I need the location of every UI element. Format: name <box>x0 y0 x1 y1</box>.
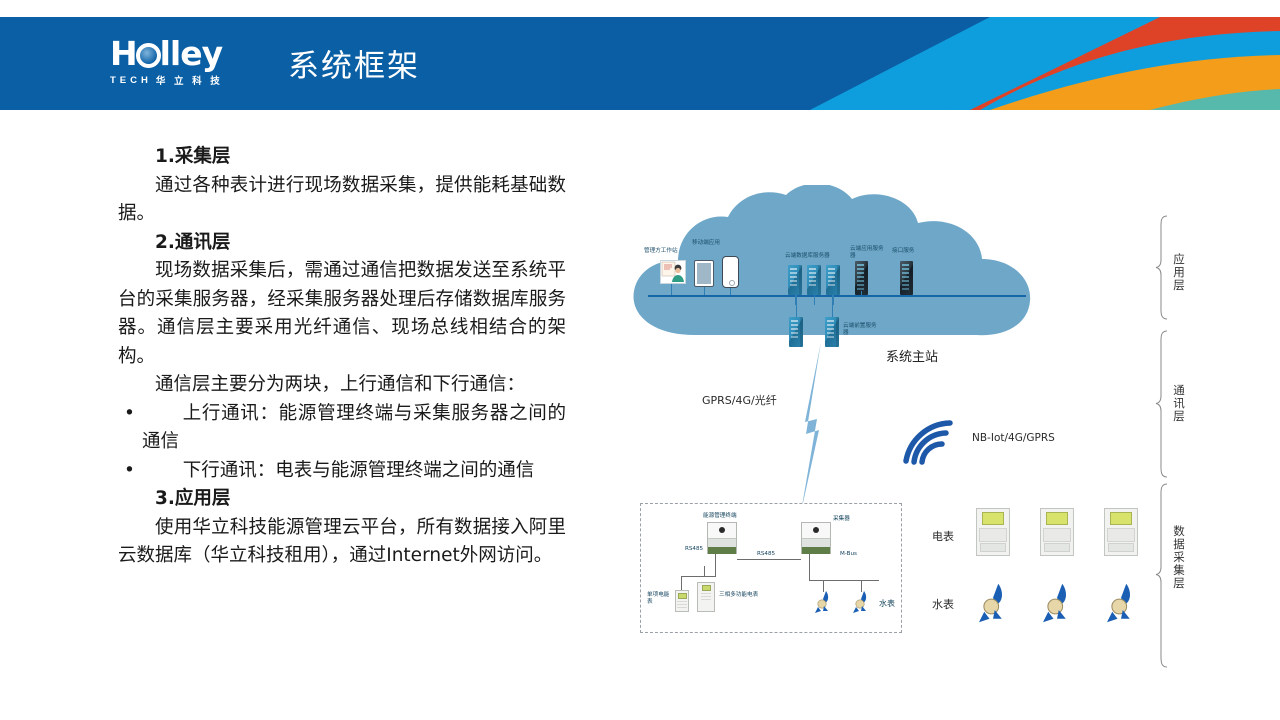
bullet-item-downlink: • 下行通讯：电表与能源管理终端之间的通信 <box>118 457 566 486</box>
logo-tech-text: TECH <box>110 75 152 86</box>
bus-drop-line <box>730 288 731 295</box>
smartphone-device-icon <box>722 256 739 288</box>
system-architecture-diagram: 管理方工作站 移动端应用 云端数据库服务器 云端应用服务器 接口服务 云端前置服… <box>600 120 1280 700</box>
water-meter-icon <box>853 590 869 614</box>
app-server-label: 云端应用服务器 <box>850 246 884 260</box>
collector-label: 采集器 <box>833 516 850 523</box>
cloud-db-server-icon <box>807 265 821 295</box>
meter-branch-wire <box>681 576 682 590</box>
field-layer-dashed-box: 能源管理终端 采集器 RS485 RS485 M-Bus 单项电能表 三相多功能… <box>640 503 902 633</box>
mobile-app-label: 移动端应用 <box>692 240 720 247</box>
bus-drop-line <box>861 291 862 295</box>
communication-layer-label: 通讯层 <box>1172 384 1186 423</box>
wireless-media-label: NB-Iot/4G/GPRS <box>972 432 1055 444</box>
mbus-label: M-Bus <box>840 551 857 558</box>
section-heading-2: 2.通讯层 <box>118 229 566 258</box>
bullet-dot-icon: • <box>124 457 135 486</box>
bus-drop-line <box>814 295 815 305</box>
wifi-signal-icon <box>900 417 956 472</box>
bullet-item-uplink-text: 上行通讯：能源管理终端与采集服务器之间的通信 <box>142 400 566 457</box>
single-phase-meter-label: 单项电能表 <box>647 592 673 606</box>
cloud-db-server-icon <box>826 265 840 295</box>
water-meter-icon <box>815 590 831 614</box>
db-server-label: 云端数据库服务器 <box>785 253 830 260</box>
cloud-bus-line <box>648 295 1026 297</box>
logo-letters-lley: lley <box>160 34 223 73</box>
body-text-column: 1.采集层 通过各种表计进行现场数据采集，提供能耗基础数据。 2.通讯层 现场数… <box>118 143 566 571</box>
header-decorative-swoosh <box>560 17 1280 110</box>
bullet-item-downlink-text: 下行通讯：电表与能源管理终端之间的通信 <box>142 457 534 486</box>
rs485-left-label: RS485 <box>685 546 703 553</box>
api-service-label: 接口服务 <box>892 248 914 255</box>
holley-logo: Hlley TECH 华 立 科 技 <box>110 37 270 93</box>
section-body-3: 通信层主要分为两块，上行通信和下行通信： <box>118 371 566 400</box>
mbus-downlink-wire <box>809 554 810 580</box>
mbus-trunk-wire <box>809 580 879 581</box>
uplink-media-label: GPRS/4G/光纤 <box>702 392 777 408</box>
single-phase-meter-label-text: 单项电能表 <box>647 592 669 605</box>
section-heading-3: 3.应用层 <box>118 485 566 514</box>
single-phase-meter-icon <box>675 590 689 612</box>
data-acquisition-layer-bracket <box>1155 483 1171 673</box>
meter-branch-wire <box>704 566 705 576</box>
section-heading-1: 1.采集层 <box>118 143 566 172</box>
page-title: 系统框架 <box>288 41 420 86</box>
api-service-server-icon <box>900 261 913 295</box>
meter-branch-wire <box>681 576 716 577</box>
data-collector-icon <box>801 522 831 554</box>
section-body-4: 使用华立科技能源管理云平台，所有数据接入阿里云数据库（华立科技租用），通过Int… <box>118 514 566 571</box>
application-layer-bracket <box>1155 215 1171 325</box>
electric-meter-icon <box>1104 508 1138 556</box>
energy-management-terminal-icon <box>707 522 737 554</box>
front-server-drop-line <box>832 295 833 317</box>
rs485-mid-label: RS485 <box>757 551 775 558</box>
logo-chinese-text: 华 立 科 技 <box>156 73 223 87</box>
section-body-1: 通过各种表计进行现场数据采集，提供能耗基础数据。 <box>118 172 566 229</box>
bullet-dot-icon: • <box>124 400 135 429</box>
lightning-bolt-icon <box>790 342 840 517</box>
logo-subtitle: TECH 华 立 科 技 <box>110 73 270 87</box>
app-server-label-text: 云端应用服务器 <box>850 246 884 259</box>
water-meter-group-label: 水表 <box>879 600 895 607</box>
logo-wordmark: Hlley <box>110 37 270 70</box>
three-phase-meter-label: 三相多功能电表 <box>719 592 759 599</box>
logo-o-ring <box>136 43 161 68</box>
three-phase-meter-icon <box>697 582 715 612</box>
data-acquisition-layer-label: 数据采集层 <box>1172 525 1186 590</box>
electric-meter-row-label: 电表 <box>932 528 954 544</box>
cloud-app-server-icon <box>855 261 868 295</box>
front-server-drop-line <box>796 295 797 317</box>
water-meter-icon <box>1106 582 1136 624</box>
section-body-2: 现场数据采集后，需通过通信把数据发送至系统平台的采集服务器，经采集服务器处理后存… <box>118 257 566 371</box>
water-meter-row-label: 水表 <box>932 596 954 612</box>
three-phase-meter-label-text: 三相多功能电表 <box>719 592 758 598</box>
water-meter-icon <box>978 582 1008 624</box>
tablet-device-icon <box>694 260 714 287</box>
bus-drop-line <box>704 287 705 295</box>
communication-layer-bracket <box>1155 330 1171 483</box>
page-header: Hlley TECH 华 立 科 技 系统框架 <box>0 17 1280 110</box>
electric-meter-icon <box>976 508 1010 556</box>
bus-drop-line <box>671 284 672 295</box>
application-layer-label: 应用层 <box>1172 253 1186 292</box>
bus-drop-line <box>833 295 834 305</box>
terminal-downlink-wire <box>715 554 716 576</box>
front-server-label: 云端前置服务器 <box>843 323 879 337</box>
water-meter-icon <box>1042 582 1072 624</box>
master-station-label: 系统主站 <box>886 346 938 365</box>
management-workstation-icon <box>660 260 686 284</box>
electric-meter-icon <box>1040 508 1074 556</box>
logo-letter-h: H <box>110 34 137 73</box>
bullet-item-uplink: • 上行通讯：能源管理终端与采集服务器之间的通信 <box>118 400 566 457</box>
cloud-db-server-icon <box>788 265 802 295</box>
front-server-label-text: 云端前置服务器 <box>843 323 877 336</box>
workstation-label: 管理方工作站 <box>644 248 678 255</box>
terminal-label: 能源管理终端 <box>703 513 737 520</box>
rs485-trunk-wire <box>737 559 801 560</box>
